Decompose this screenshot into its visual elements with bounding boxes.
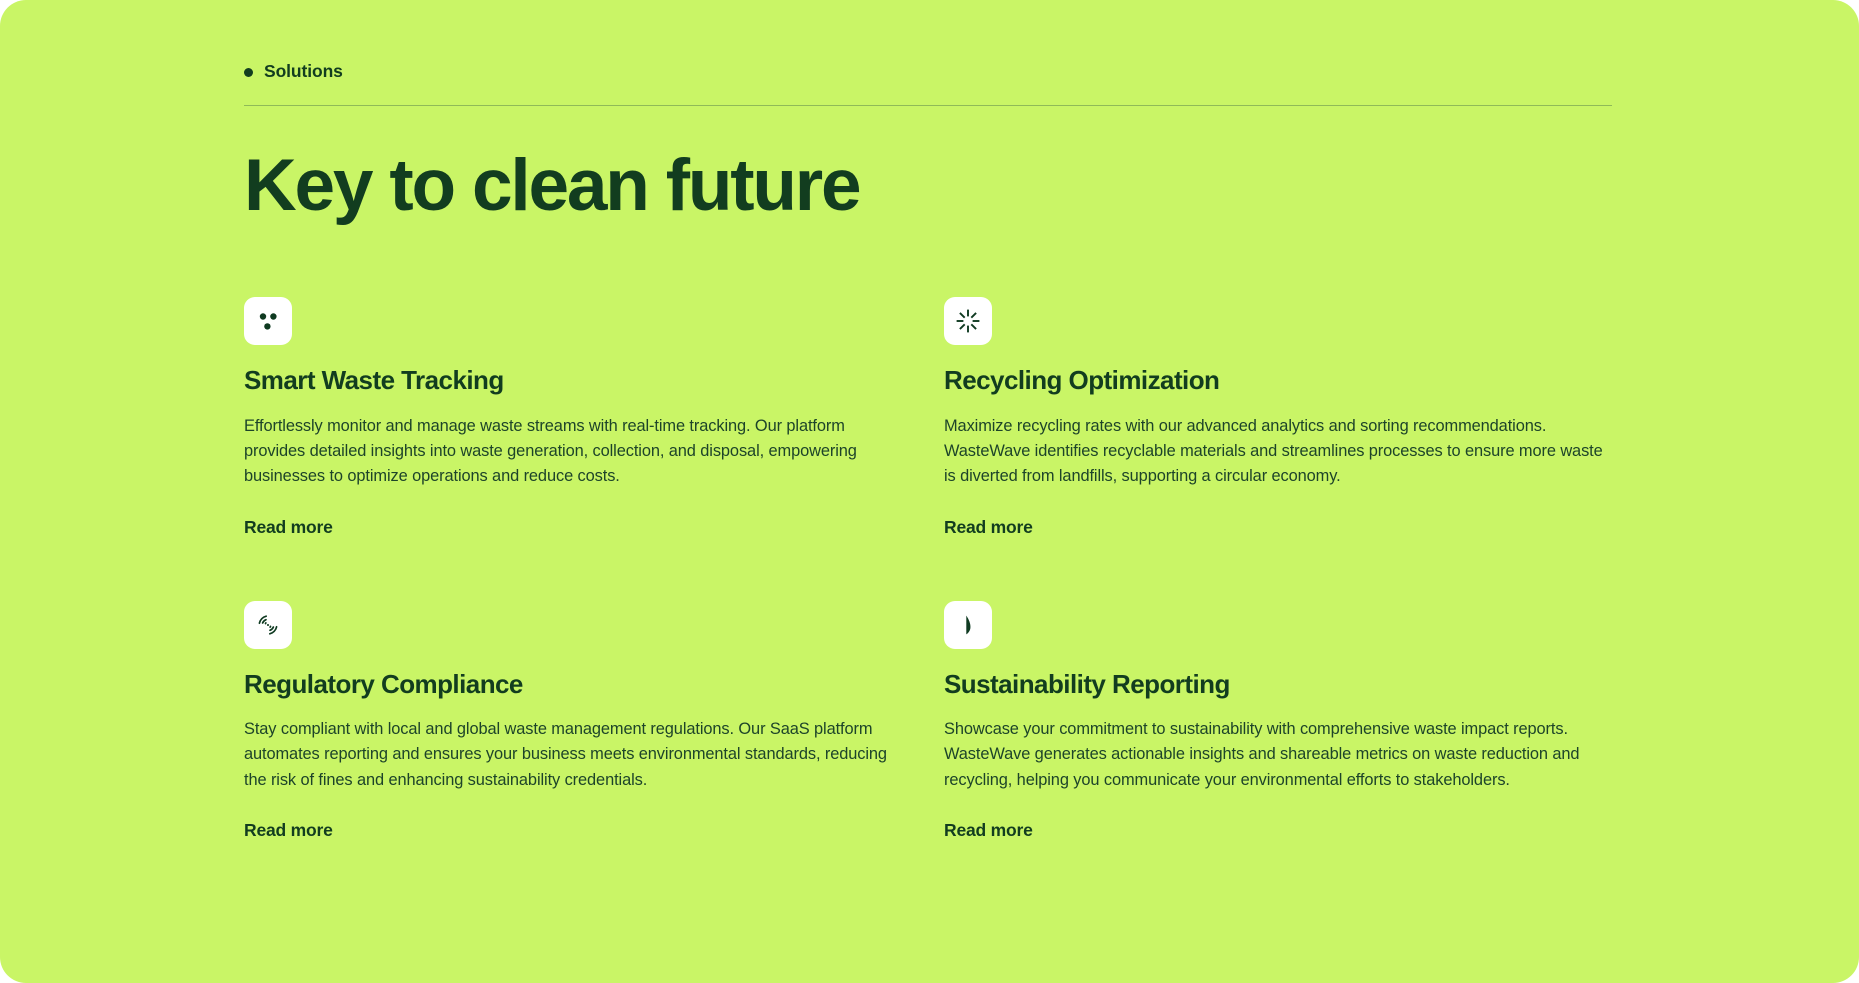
bullet-dot-icon [244,68,253,77]
icon-tile [244,601,292,649]
solutions-page: Solutions Key to clean future Smart Wast… [0,0,1859,983]
header-divider [244,105,1612,106]
content-container: Solutions Key to clean future Smart Wast… [244,0,1612,841]
feature-description: Maximize recycling rates with our advanc… [944,414,1612,490]
feature-description: Showcase your commitment to sustainabili… [944,717,1612,793]
page-title: Key to clean future [244,149,1612,223]
icon-tile [944,601,992,649]
feature-card-regulatory-compliance: Regulatory Compliance Stay compliant wit… [244,601,899,841]
icon-tile [944,297,992,345]
feature-title: Recycling Optimization [944,366,1612,395]
feature-card-sustainability-reporting: Sustainability Reporting Showcase your c… [944,601,1612,841]
feature-card-recycling-optimization: Recycling Optimization Maximize recyclin… [944,297,1612,537]
feature-description: Stay compliant with local and global was… [244,717,899,793]
read-more-link[interactable]: Read more [244,517,333,538]
read-more-link[interactable]: Read more [244,820,333,841]
section-eyebrow-label: Solutions [264,63,343,81]
three-dots-icon [254,307,282,335]
feature-title: Sustainability Reporting [944,670,1612,699]
read-more-link[interactable]: Read more [944,517,1033,538]
section-eyebrow: Solutions [244,58,1612,86]
feature-title: Regulatory Compliance [244,670,899,699]
icon-tile [244,297,292,345]
signal-waves-icon [254,611,282,639]
feature-card-smart-waste-tracking: Smart Waste Tracking Effortlessly monito… [244,297,899,537]
leaf-crescent-icon [954,611,982,639]
read-more-link[interactable]: Read more [944,820,1033,841]
feature-title: Smart Waste Tracking [244,366,899,395]
starburst-asterisk-icon [954,307,982,335]
feature-description: Effortlessly monitor and manage waste st… [244,414,899,490]
feature-grid: Smart Waste Tracking Effortlessly monito… [244,297,1612,841]
